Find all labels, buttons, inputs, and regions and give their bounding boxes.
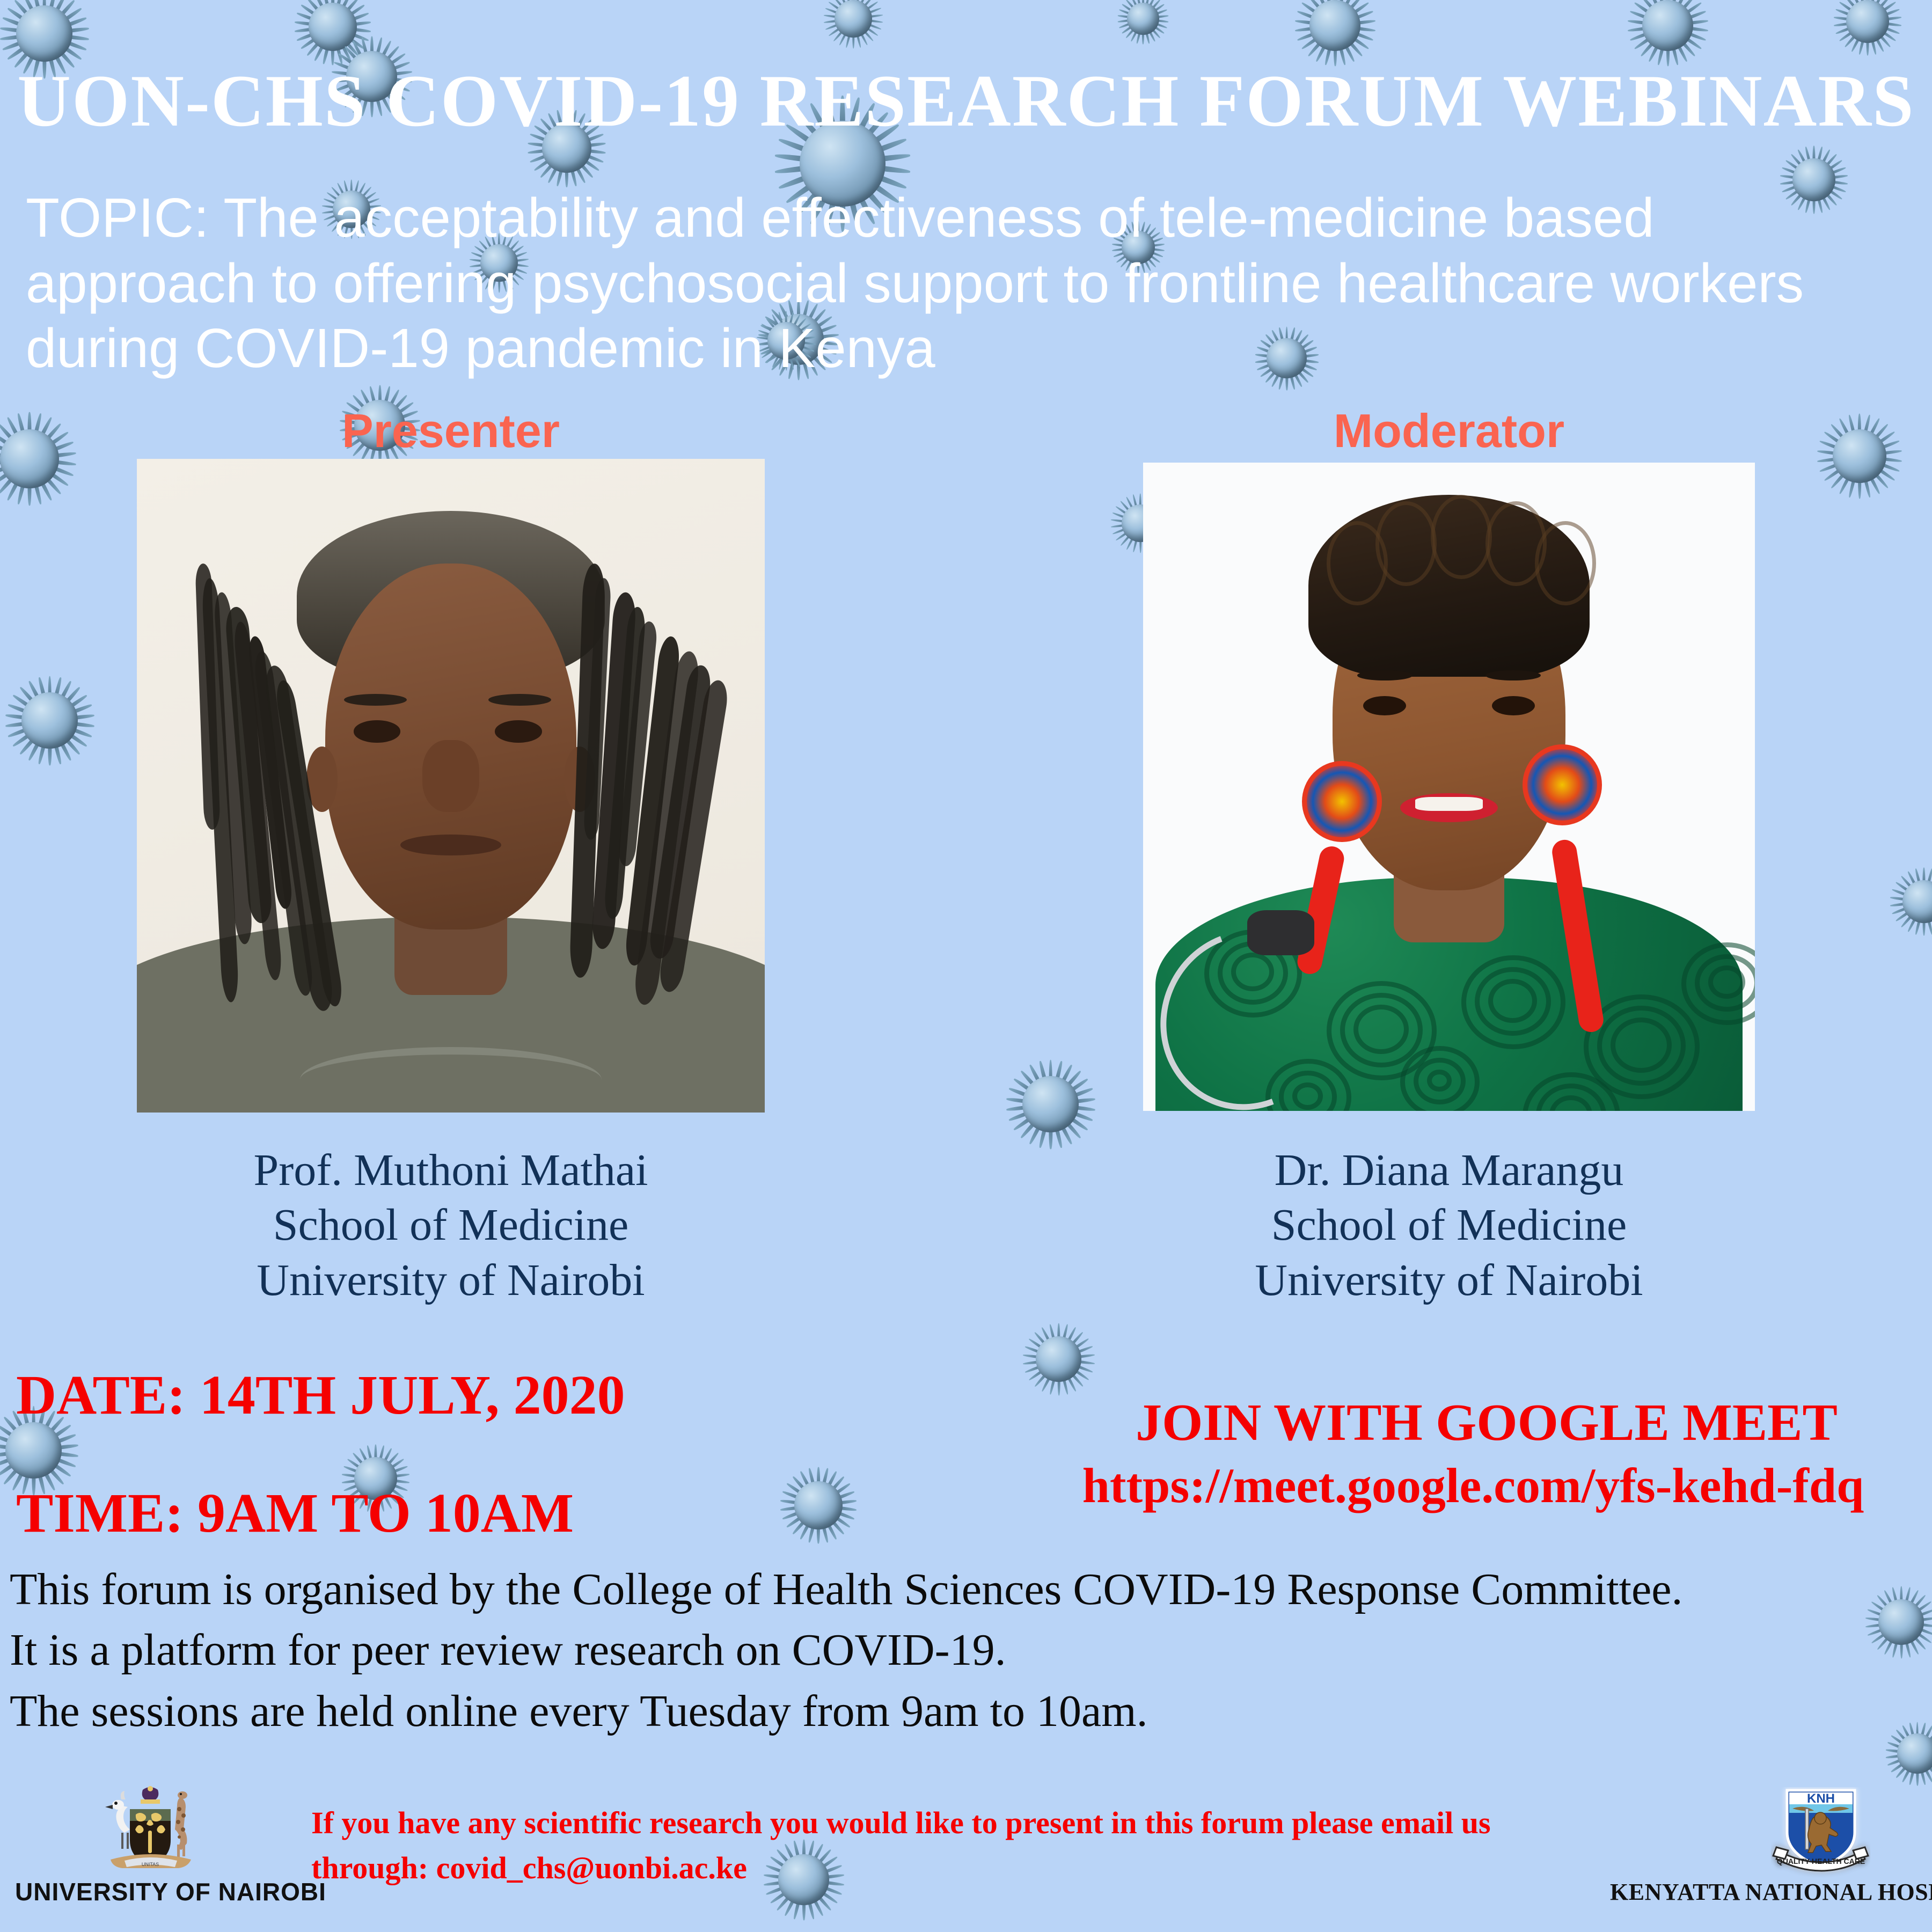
coronavirus-particle — [1642, 0, 1693, 51]
rose-motif — [1488, 979, 1537, 1023]
svg-text:UNITAS: UNITAS — [142, 1862, 159, 1867]
eye-left — [1363, 696, 1406, 715]
submission-note-line-1: If you have any scientific research you … — [311, 1801, 1685, 1846]
coronavirus-particle — [1022, 1076, 1079, 1132]
eyebrow-left — [1357, 670, 1413, 680]
coronavirus-particle — [0, 429, 59, 488]
coronavirus-particle — [1833, 429, 1886, 483]
shirt-collar — [300, 1047, 602, 1113]
rose-motif — [1353, 1005, 1409, 1054]
knh-caption: KENYATTA NATIONAL HOSPITAL — [1610, 1878, 1932, 1906]
coronavirus-particle — [21, 692, 78, 749]
presenter-name: Prof. Muthoni Mathai — [80, 1143, 821, 1198]
presenter-photo — [137, 459, 765, 1113]
coronavirus-particle — [5, 1422, 62, 1479]
moderator-details: Dr. Diana Marangu School of Medicine Uni… — [1079, 1143, 1819, 1308]
coronavirus-particle — [1878, 1599, 1924, 1645]
uon-caption: UNIVERSITY OF NAIROBI — [15, 1877, 326, 1906]
beaded-earring-left — [1302, 761, 1381, 842]
submission-note: If you have any scientific research you … — [311, 1801, 1685, 1891]
event-date: DATE: 14TH JULY, 2020 — [16, 1363, 625, 1427]
mouth — [400, 835, 501, 855]
hair-twist — [1375, 501, 1437, 586]
teeth — [1415, 797, 1482, 810]
nose — [422, 740, 479, 812]
moderator-photo — [1143, 463, 1755, 1111]
coronavirus-particle — [1309, 0, 1360, 51]
description-line-2: It is a platform for peer review researc… — [10, 1620, 1834, 1680]
description-line-1: This forum is organised by the College o… — [10, 1559, 1834, 1620]
presenter-university: University of Nairobi — [80, 1253, 821, 1308]
rose-motif — [1427, 1070, 1452, 1092]
beaded-earring-right — [1523, 744, 1602, 825]
forum-description: This forum is organised by the College o… — [10, 1559, 1834, 1741]
kenyatta-national-hospital-logo: KNH QUALITY HEALTH CARE — [1771, 1787, 1870, 1889]
moderator-school: School of Medicine — [1079, 1198, 1819, 1253]
moderator-university: University of Nairobi — [1079, 1253, 1819, 1308]
topic-text: TOPIC: The acceptability and effectivene… — [26, 185, 1893, 381]
coronavirus-particle — [1846, 0, 1889, 43]
coronavirus-particle — [835, 0, 872, 38]
eye-left — [354, 720, 401, 742]
coronavirus-particle — [1897, 1733, 1932, 1774]
eye-right — [495, 720, 542, 742]
hair-twist — [1535, 521, 1596, 605]
submission-note-line-2[interactable]: through: covid_chs@uonbi.ac.ke — [311, 1846, 1685, 1891]
stethoscope-knob — [1247, 910, 1314, 956]
presenter-details: Prof. Muthoni Mathai School of Medicine … — [80, 1143, 821, 1308]
rose-motif — [1708, 965, 1745, 999]
join-heading: JOIN WITH GOOGLE MEET — [1052, 1393, 1921, 1453]
webinar-poster: UON-CHS COVID-19 RESEARCH FORUM WEBINARS… — [0, 0, 1932, 1932]
page-title: UON-CHS COVID-19 RESEARCH FORUM WEBINARS — [0, 58, 1932, 143]
university-of-nairobi-logo: UNITAS — [91, 1784, 209, 1886]
eyebrow-right — [1485, 670, 1541, 680]
event-time: TIME: 9AM TO 10AM — [16, 1481, 574, 1545]
knh-logo-motto: QUALITY HEALTH CARE — [1777, 1857, 1865, 1865]
eye-right — [1492, 696, 1535, 715]
rose-motif — [1611, 1018, 1672, 1073]
coronavirus-particle — [1902, 880, 1932, 923]
role-label-presenter: Presenter — [137, 404, 765, 458]
role-label-moderator: Moderator — [1143, 404, 1755, 458]
coronavirus-particle — [16, 5, 72, 62]
hair-twist — [1431, 495, 1492, 579]
coronavirus-particle — [794, 1481, 843, 1529]
google-meet-link[interactable]: https://meet.google.com/yfs-kehd-fdq — [1020, 1457, 1927, 1514]
presenter-school: School of Medicine — [80, 1198, 821, 1253]
coronavirus-particle — [1127, 3, 1159, 35]
description-line-3: The sessions are held online every Tuesd… — [10, 1681, 1834, 1741]
moderator-name: Dr. Diana Marangu — [1079, 1143, 1819, 1198]
coronavirus-particle — [1036, 1336, 1081, 1382]
knh-logo-text: KNH — [1807, 1791, 1835, 1806]
coronavirus-particle — [309, 3, 357, 51]
